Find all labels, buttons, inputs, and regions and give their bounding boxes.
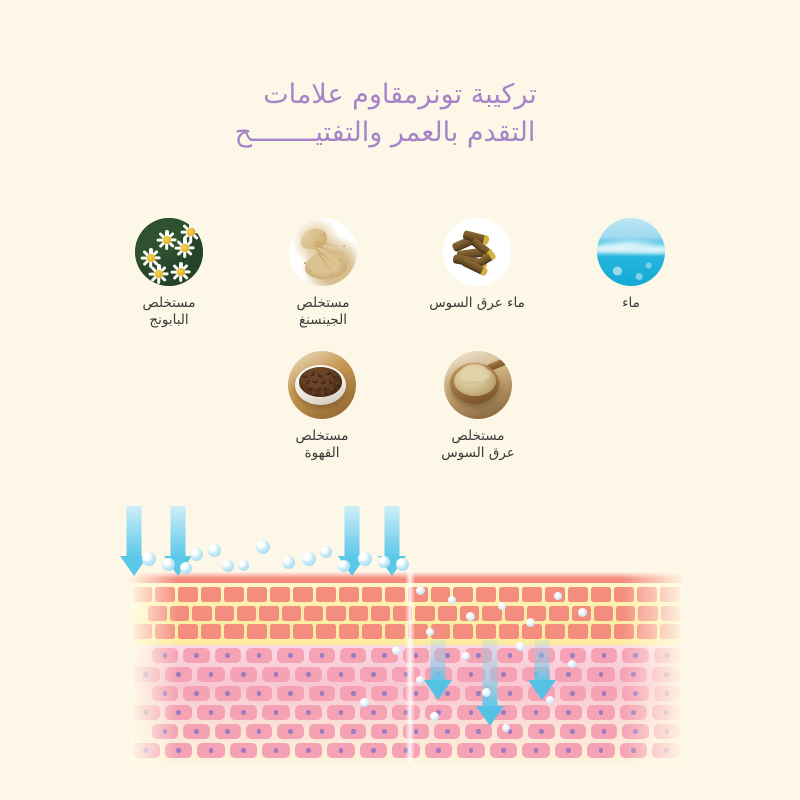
moisture-droplet-icon (578, 608, 587, 617)
ginseng-root-icon (289, 218, 357, 286)
ingredient-chamomile-extract[interactable]: مستخلص البابونج (121, 218, 217, 329)
moisture-droplet-icon (180, 562, 192, 574)
moisture-droplet-icon (208, 544, 221, 557)
moisture-droplet-icon (448, 596, 456, 604)
moisture-droplet-icon (502, 724, 510, 732)
moisture-droplet-icon (378, 556, 390, 568)
ingredient-label: مستخلص البابونج (142, 295, 195, 329)
moisture-droplet-icon (396, 558, 409, 571)
moisture-droplet-icon (190, 548, 203, 561)
moisture-droplet-icon (416, 676, 424, 684)
moisture-droplet-icon (238, 560, 249, 571)
ingredient-coffee-extract[interactable]: مستخلص القهوة (274, 351, 370, 462)
licorice-sticks-icon (443, 218, 511, 286)
ingredient-label: مستخلص عرق السوس (441, 428, 515, 462)
ingredients-section: ماء ماء عرق السوس (0, 218, 800, 462)
moisture-droplet-icon (360, 698, 369, 707)
chamomile-flowers-icon (135, 218, 203, 286)
skin-absorption-diagram (130, 500, 682, 762)
ingredients-row-2: مستخلص عرق السوس (0, 351, 800, 462)
moisture-droplet-icon (358, 552, 372, 566)
powder-bowl-icon (444, 351, 512, 419)
moisture-droplet-icon (320, 546, 332, 558)
ingredient-licorice-water[interactable]: ماء عرق السوس (429, 218, 525, 329)
moisture-droplet-icon (142, 552, 156, 566)
moisture-droplet-icon (466, 612, 475, 621)
ingredient-water[interactable]: ماء (583, 218, 679, 329)
moisture-droplet-icon (222, 560, 234, 572)
panel-seam-divider (405, 572, 415, 762)
moisture-droplet-icon (462, 652, 470, 660)
moisture-droplet-icon (516, 642, 525, 651)
moisture-droplet-icon (338, 560, 350, 572)
water-circle-icon (597, 218, 665, 286)
moisture-droplet-icon (482, 688, 491, 697)
moisture-droplet-icon (546, 696, 554, 704)
ingredient-label: مستخلص الجينسنغ (296, 295, 349, 329)
moisture-droplet-icon (526, 618, 535, 627)
moisture-droplet-icon (426, 628, 434, 636)
ingredients-row-1: ماء ماء عرق السوس (0, 218, 800, 329)
ingredient-label: ماء عرق السوس (429, 295, 525, 312)
moisture-droplet-icon (302, 552, 316, 566)
moisture-droplet-icon (392, 646, 401, 655)
moisture-droplet-icon (256, 540, 270, 554)
ingredient-label: مستخلص القهوة (295, 428, 348, 462)
moisture-droplet-icon (430, 712, 439, 721)
moisture-droplet-icon (416, 586, 425, 595)
page-title: تركيبة تونرمقاوم علامات التقدم بالعمر وا… (0, 76, 800, 152)
page-title-line-2: التقدم بالعمر والتفتيــــــــح (0, 114, 800, 152)
ingredient-label: ماء (622, 295, 640, 312)
moisture-droplet-icon (162, 558, 175, 571)
ingredient-ginseng-extract[interactable]: مستخلص الجينسنغ (275, 218, 371, 329)
page-title-line-1: تركيبة تونرمقاوم علامات (0, 76, 800, 114)
coffee-beans-bowl-icon (288, 351, 356, 419)
moisture-droplet-icon (282, 556, 295, 569)
moisture-droplet-icon (554, 592, 562, 600)
moisture-droplet-icon (568, 660, 576, 668)
moisture-droplet-icon (498, 602, 506, 610)
ingredient-licorice-root-extract[interactable]: مستخلص عرق السوس (430, 351, 526, 462)
skin-layers (130, 572, 682, 762)
